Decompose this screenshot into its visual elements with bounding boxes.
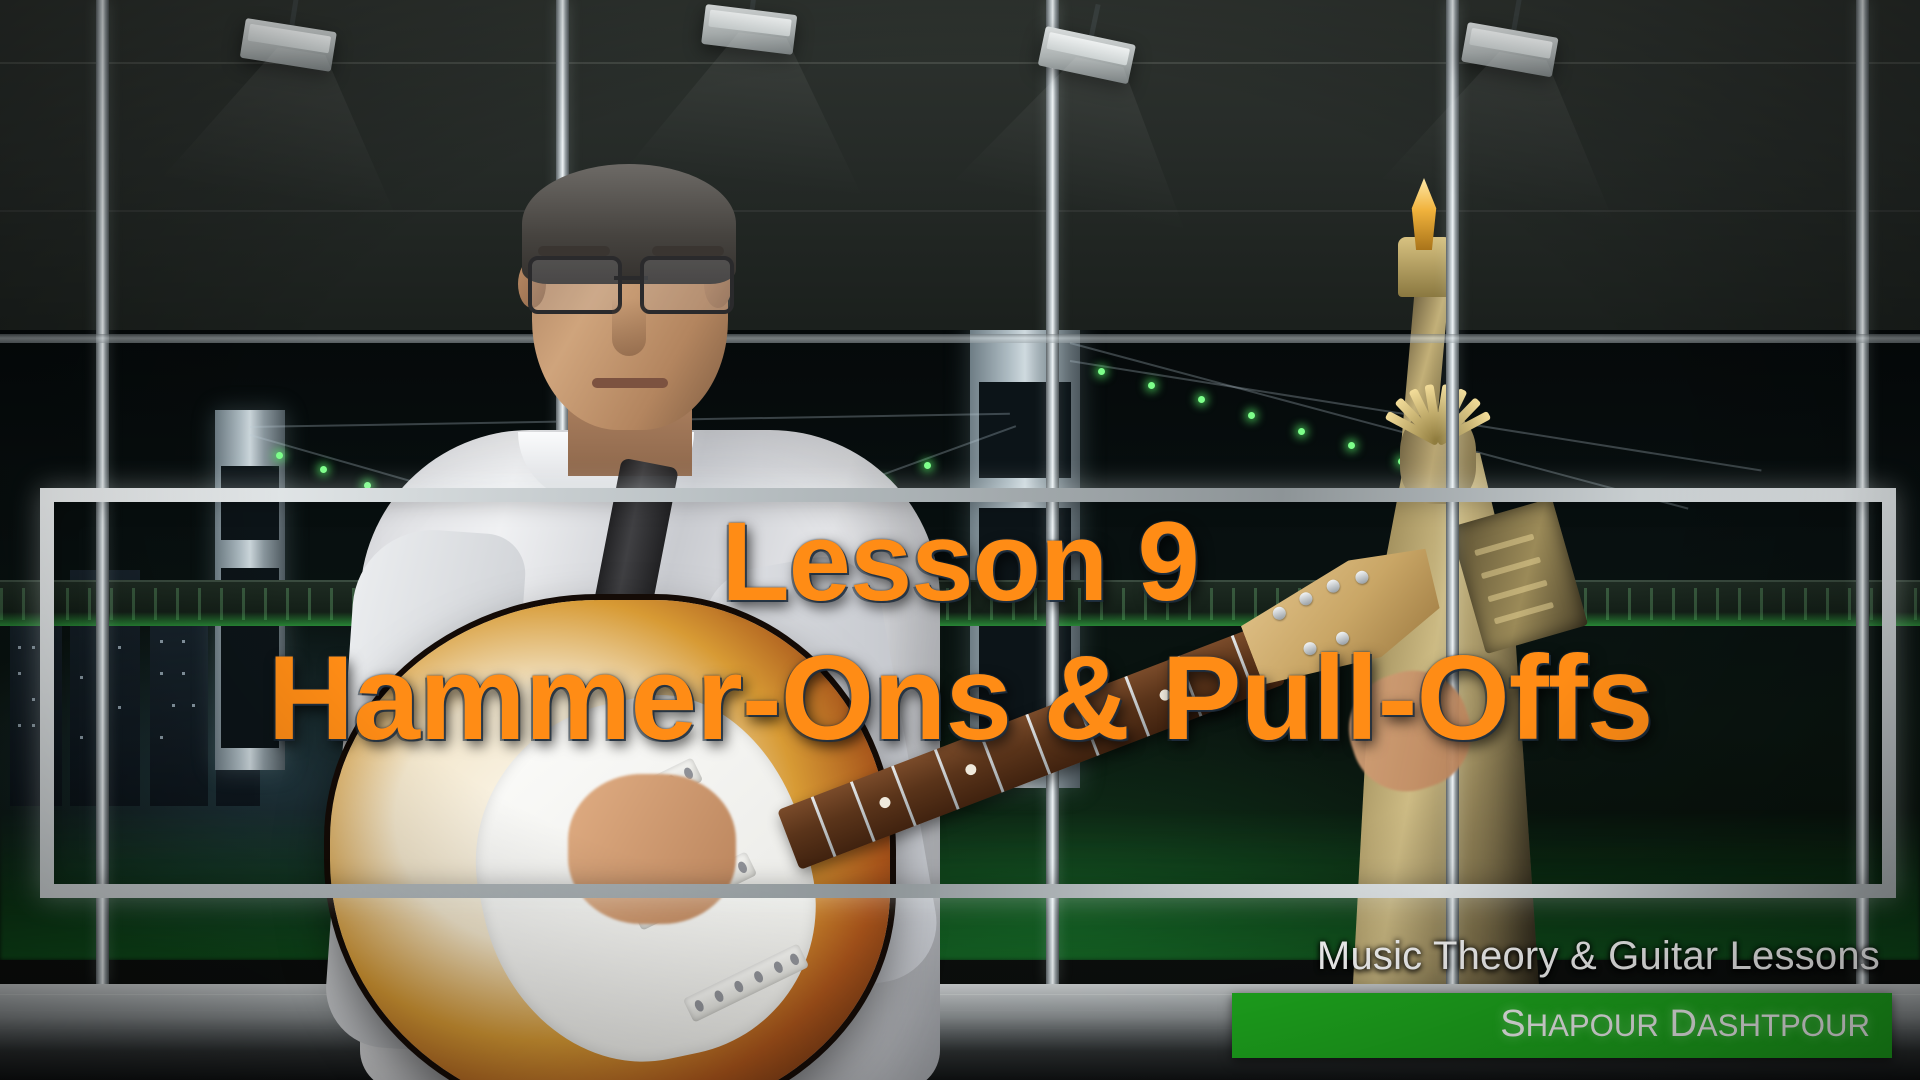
eyebrow-left [538,246,610,256]
presenter-last-initial: D [1669,1003,1696,1045]
title-block: Lesson 9 Hammer-Ons & Pull-Offs [0,498,1920,758]
presenter-first-initial: S [1500,1003,1525,1045]
title-line-1: Lesson 9 [0,506,1920,618]
nose [612,298,646,356]
picking-hand [568,774,736,924]
eyebrow-right [652,246,724,256]
window-mullion-1 [96,0,109,984]
presenter-name-badge: SHAPOUR DASHTPOUR [1232,993,1892,1058]
branding-block: Music Theory & Guitar Lessons SHAPOUR DA… [1232,932,1892,1058]
crown-spikes [1376,368,1500,442]
presenter-first-rest: HAPOUR [1526,1008,1659,1043]
window-mullion-5 [1856,0,1869,984]
title-line-2: Hammer-Ons & Pull-Offs [0,638,1920,758]
mouth [592,378,668,388]
thumbnail-canvas: Lesson 9 Hammer-Ons & Pull-Offs Music Th… [0,0,1920,1080]
channel-tagline: Music Theory & Guitar Lessons [1305,932,1892,985]
presenter-last-rest: ASHTPOUR [1697,1008,1870,1043]
